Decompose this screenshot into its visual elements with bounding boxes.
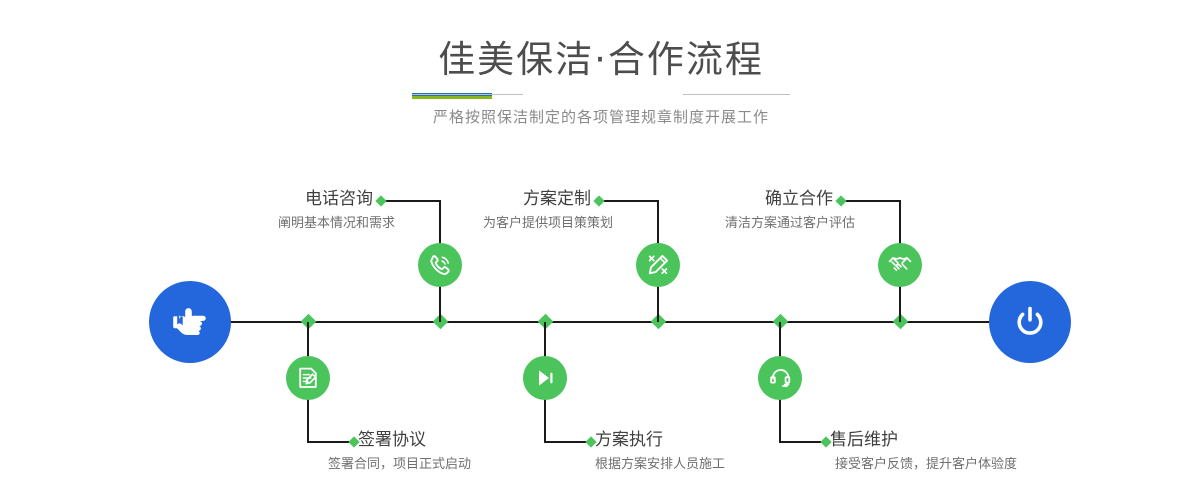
step-icon-after-sales[interactable] [758, 356, 802, 400]
step-desc-plan-execute: 根据方案安排人员施工 [595, 455, 725, 475]
divider-green-segment [412, 96, 492, 99]
page-title: 佳美保洁·合作流程 [0, 38, 1202, 82]
step-title-plan-execute: 方案执行 [595, 429, 663, 451]
page-subtitle: 严格按照保洁制定的各项管理规章制度开展工作 [0, 106, 1202, 128]
flow-start-node[interactable] [149, 281, 231, 363]
flow-diagram-canvas: 佳美保洁·合作流程 严格按照保洁制定的各项管理规章制度开展工作 [0, 0, 1202, 502]
step-title-confirm-cooperation: 确立合作 [625, 188, 833, 210]
divider-left-gray [412, 94, 523, 95]
step-desc-phone-consult: 阐明基本情况和需求 [150, 214, 395, 234]
step-title-phone-consult: 电话咨询 [160, 188, 373, 210]
phone-call-icon [427, 252, 453, 278]
connector-tip [835, 195, 846, 206]
step-title-plan-custom: 方案定制 [380, 188, 591, 210]
step-title-after-sales: 售后维护 [830, 429, 898, 451]
handshake-icon [887, 252, 913, 278]
step-icon-phone-consult[interactable] [418, 243, 462, 287]
pointing-hand-icon [167, 299, 213, 345]
play-execute-icon [532, 365, 558, 391]
step-icon-plan-custom[interactable] [636, 243, 680, 287]
step-icon-plan-execute[interactable] [523, 356, 567, 400]
step-title-sign-agreement: 签署协议 [358, 429, 426, 451]
divider-right-gray [683, 94, 790, 95]
power-icon [1007, 299, 1053, 345]
title-divider [412, 93, 790, 96]
connector-horizontal [843, 200, 900, 202]
step-desc-after-sales: 接受客户反馈，提升客户体验度 [835, 455, 1017, 475]
connector-tip [593, 195, 604, 206]
step-desc-plan-custom: 为客户提供项目策策划 [368, 214, 613, 234]
step-desc-sign-agreement: 签署合同，项目正式启动 [328, 455, 471, 475]
step-desc-confirm-cooperation: 清洁方案通过客户评估 [610, 214, 855, 234]
headset-support-icon [767, 365, 793, 391]
step-icon-confirm-cooperation[interactable] [878, 243, 922, 287]
step-icon-sign-agreement[interactable] [286, 356, 330, 400]
pencil-ruler-icon [645, 252, 671, 278]
flow-end-node[interactable] [989, 281, 1071, 363]
document-pen-icon [295, 365, 321, 391]
